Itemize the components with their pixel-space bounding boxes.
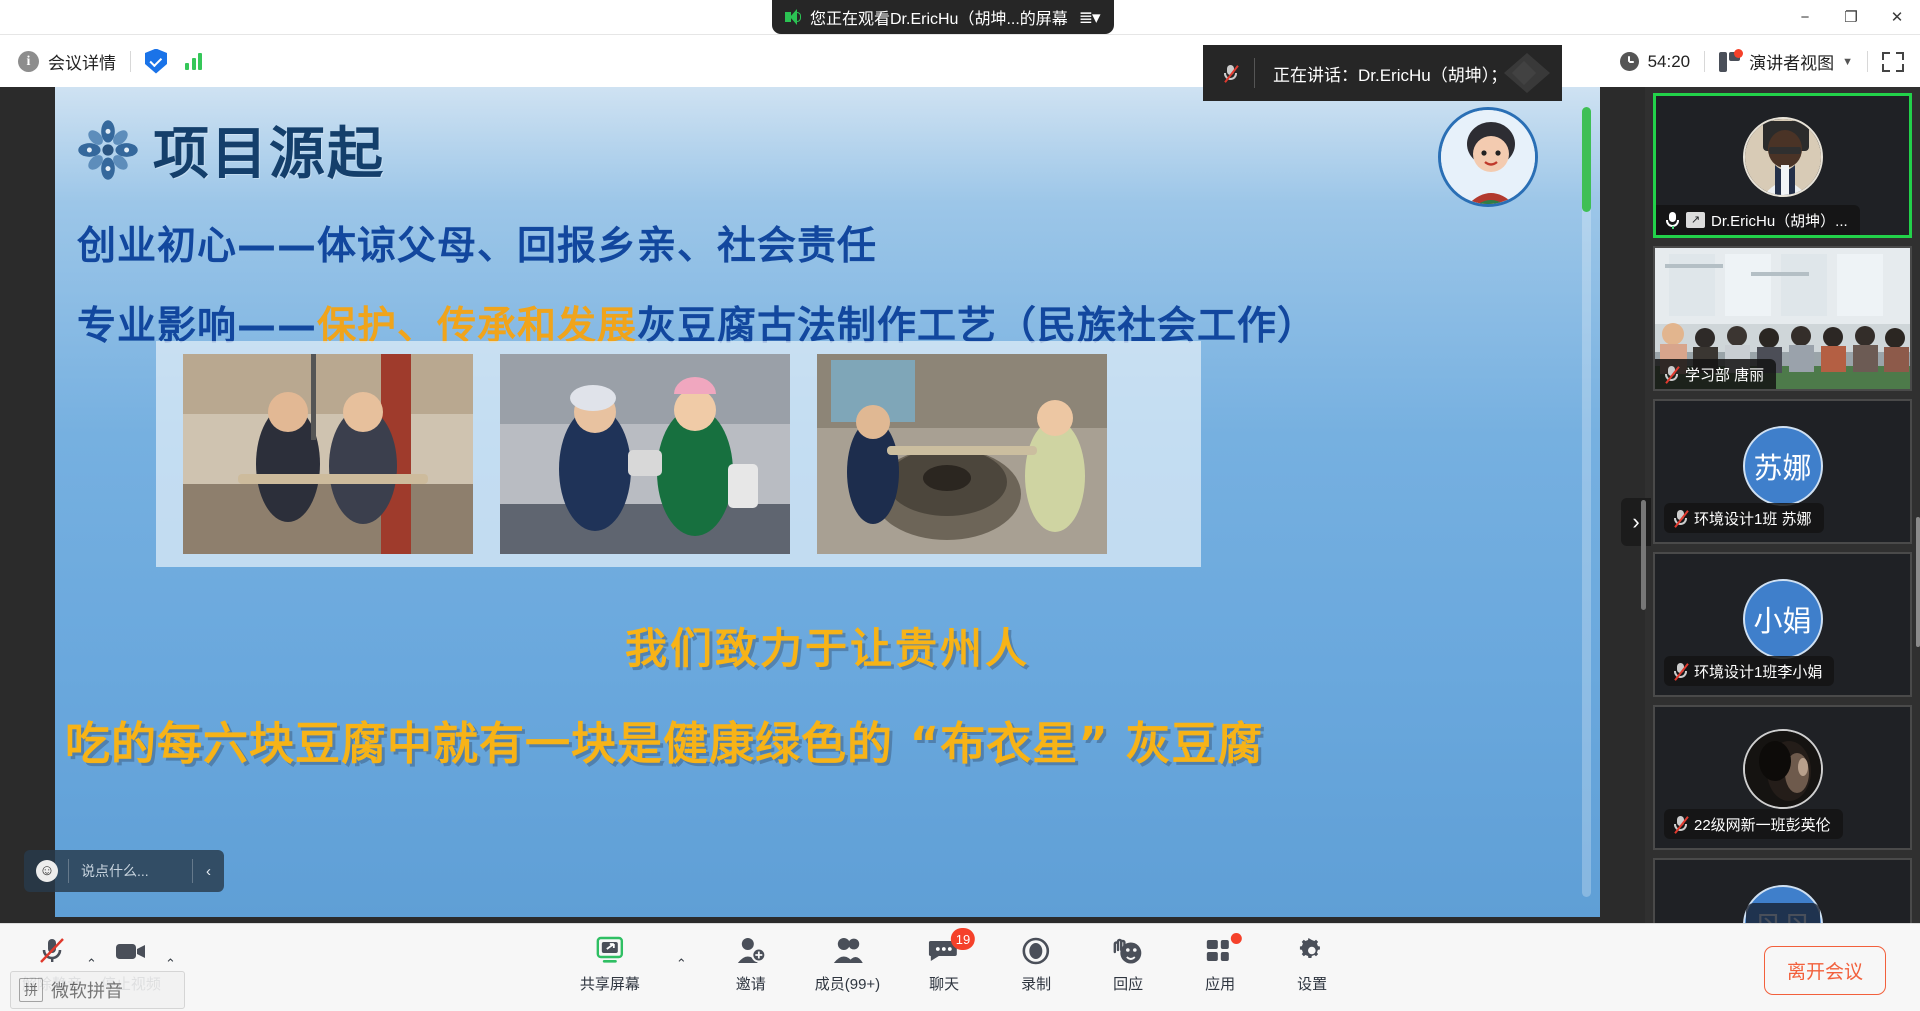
mic-muted-icon (1673, 510, 1688, 527)
flower-ornament-icon (77, 119, 139, 181)
slide-tagline-2: 吃的每六块豆腐中就有一块是健康绿色的 “布衣星” 灰豆腐 (65, 707, 1264, 772)
chevron-left-icon[interactable]: ‹ (193, 863, 224, 880)
layout-icon (1719, 52, 1741, 72)
avatar (1743, 729, 1823, 809)
meeting-details-label: 会议详情 (48, 49, 116, 74)
speaker-icon (785, 9, 801, 25)
slide-scrollbar[interactable] (1582, 107, 1591, 897)
invite-button[interactable]: 邀请 (723, 936, 779, 994)
fullscreen-icon[interactable] (1882, 52, 1904, 72)
participant-name-bar: Dr.EricHu（胡坤）... (1656, 205, 1860, 235)
meeting-details-button[interactable]: i 会议详情 (18, 49, 116, 74)
timer-value: 54:20 (1648, 52, 1691, 72)
slide-line-1: 创业初心——体谅父母、回报乡亲、社会责任 (77, 215, 877, 271)
reaction-hand-icon (1111, 936, 1145, 966)
ime-indicator: 拼 微软拼音 (10, 971, 185, 1009)
slide-heading: 项目源起 (153, 109, 385, 190)
sharing-banner-text: 您正在观看Dr.EricHu（胡坤...的屏幕 (810, 5, 1068, 29)
share-options-chevron-icon[interactable]: ⌃ (676, 956, 687, 994)
apps-label: 应用 (1205, 973, 1235, 994)
view-mode-switcher[interactable]: 演讲者视图 ▼ (1719, 49, 1853, 74)
reaction-button[interactable]: 回应 (1100, 936, 1156, 994)
participant-name: 环境设计1班 苏娜 (1694, 508, 1812, 529)
participant-tile[interactable]: 苏娜 环境设计1班 苏娜 (1653, 399, 1912, 544)
sharing-status-banner[interactable]: 您正在观看Dr.EricHu（胡坤...的屏幕 ≣▾ (772, 0, 1114, 34)
window-controls: − ❐ ✕ (1782, 0, 1920, 34)
record-label: 录制 (1021, 973, 1051, 994)
slide-title-group: 项目源起 (77, 109, 385, 190)
divider (130, 51, 131, 72)
participants-panel[interactable]: Dr.EricHu（胡坤）... (1645, 87, 1920, 923)
presenter-avatar-overlay (1438, 107, 1538, 207)
decorative-shape (1500, 51, 1554, 95)
share-screen-button[interactable]: 共享屏幕 (580, 936, 640, 994)
chat-bubble-icon: 19 (927, 936, 961, 966)
mic-muted-icon (1223, 65, 1238, 82)
participant-tile[interactable]: 小娟 环境设计1班李小娟 (1653, 552, 1912, 697)
chat-unread-badge: 19 (951, 928, 975, 950)
toolbar-center-group: 共享屏幕 ⌃ 邀请 (580, 936, 1340, 994)
slide-photo-strip (156, 341, 1201, 567)
avatar: 苏娜 (1743, 426, 1823, 506)
participant-name: 环境设计1班李小娟 (1694, 661, 1822, 682)
mic-on-icon (1665, 212, 1680, 229)
participant-tile[interactable]: 22级网新一班彭英伦 (1653, 705, 1912, 850)
apps-grid-icon (1203, 936, 1237, 966)
divider (1867, 51, 1868, 72)
top-bar-right-group: 54:20 演讲者视图 ▼ (1620, 35, 1920, 88)
invite-person-icon (734, 936, 768, 966)
comment-input-placeholder[interactable]: 说点什么... (69, 861, 192, 881)
hamburger-menu-icon[interactable]: ≣▾ (1079, 9, 1100, 26)
active-speaker-toast: 正在讲话：Dr.EricHu（胡坤）； (1203, 45, 1562, 101)
participant-name: 学习部 唐丽 (1685, 364, 1764, 385)
presentation-slide: 项目源起 创业初心——体谅父母、回报乡亲、社会责任 专业影响——保护、传承和发展… (55, 87, 1600, 917)
participant-name-bar: 22级网新一班彭英伦 (1664, 809, 1843, 839)
maximize-button[interactable]: ❐ (1828, 0, 1874, 34)
meeting-timer: 54:20 (1620, 52, 1691, 72)
avatar: 小娟 (1743, 579, 1823, 659)
ime-drag-handle[interactable] (11, 972, 16, 1008)
slide-photo-1 (183, 354, 473, 554)
meeting-toolbar: 解除静音 ⌃ 停止视频 ⌃ 拼 微软拼音 (0, 923, 1920, 1011)
screen-share-icon (593, 936, 627, 966)
participant-tile[interactable]: Dr.EricHu（胡坤）... (1653, 93, 1912, 238)
divider (1704, 51, 1705, 72)
record-circle-icon (1019, 936, 1053, 966)
slide-photo-3 (817, 354, 1107, 554)
record-button[interactable]: 录制 (1008, 936, 1064, 994)
mic-muted-icon (1664, 366, 1679, 383)
minimize-button[interactable]: − (1782, 0, 1828, 34)
signal-bars-icon[interactable] (185, 52, 202, 70)
chat-button[interactable]: 19 聊天 (916, 936, 972, 994)
participants-icon (830, 936, 864, 966)
avatar (1743, 117, 1823, 197)
view-mode-label: 演讲者视图 (1749, 49, 1834, 74)
screen-share-icon (1686, 212, 1705, 228)
emoji-icon[interactable]: ☺ (36, 860, 58, 882)
share-screen-label: 共享屏幕 (580, 973, 640, 994)
close-button[interactable]: ✕ (1874, 0, 1920, 34)
participant-name: Dr.EricHu（胡坤）... (1711, 210, 1848, 231)
chat-label: 聊天 (929, 973, 959, 994)
chevron-down-icon: ▼ (1842, 56, 1853, 68)
mic-muted-icon (35, 936, 69, 966)
participants-panel-scrollbar[interactable] (1916, 517, 1920, 647)
ime-label: 微软拼音 (51, 977, 123, 1003)
mic-muted-icon (1673, 663, 1688, 680)
window-title-bar: 您正在观看Dr.EricHu（胡坤...的屏幕 ≣▾ − ❐ ✕ (0, 0, 1920, 34)
apps-button[interactable]: 应用 (1192, 936, 1248, 994)
ime-mode-badge[interactable]: 拼 (19, 978, 43, 1002)
participants-button[interactable]: 成员(99+) (815, 936, 880, 994)
settings-button[interactable]: 设置 (1284, 936, 1340, 994)
shield-check-icon[interactable] (145, 49, 167, 74)
toolbar-right-group: 离开会议 (1764, 946, 1886, 995)
stage-scrollbar[interactable] (1641, 500, 1646, 610)
participant-tile[interactable]: 丹丹 ˅ (1653, 858, 1912, 923)
gear-icon (1295, 936, 1329, 966)
active-speaker-text: 正在讲话：Dr.EricHu（胡坤）； (1273, 61, 1507, 86)
chevron-down-icon[interactable]: ˅ (1746, 903, 1820, 924)
divider (1254, 58, 1255, 88)
invite-label: 邀请 (736, 973, 766, 994)
slide-photo-2 (500, 354, 790, 554)
settings-label: 设置 (1297, 973, 1327, 994)
apps-notification-dot (1231, 933, 1242, 944)
participant-name: 22级网新一班彭英伦 (1694, 814, 1831, 835)
camera-icon (114, 936, 148, 966)
clock-icon (1620, 52, 1639, 71)
participant-name-bar: 环境设计1班 苏娜 (1664, 503, 1824, 533)
slide-tagline-1: 我们致力于让贵州人 (55, 615, 1600, 676)
participant-name-bar: 学习部 唐丽 (1655, 359, 1776, 389)
reaction-label: 回应 (1113, 973, 1143, 994)
info-icon: i (18, 51, 39, 72)
participant-name-bar: 环境设计1班李小娟 (1664, 656, 1834, 686)
participant-tile[interactable]: 学习部 唐丽 (1653, 246, 1912, 391)
mic-muted-icon (1673, 816, 1688, 833)
participants-label: 成员(99+) (815, 973, 880, 994)
shared-screen-stage[interactable]: 项目源起 创业初心——体谅父母、回报乡亲、社会责任 专业影响——保护、传承和发展… (0, 87, 1645, 923)
leave-meeting-button[interactable]: 离开会议 (1764, 946, 1886, 995)
meeting-top-bar: i 会议详情 54:20 演讲者视图 ▼ (0, 34, 1920, 87)
comment-input-bar[interactable]: ☺ 说点什么... ‹ (24, 850, 224, 892)
panel-collapse-handle[interactable]: › (1621, 498, 1651, 546)
